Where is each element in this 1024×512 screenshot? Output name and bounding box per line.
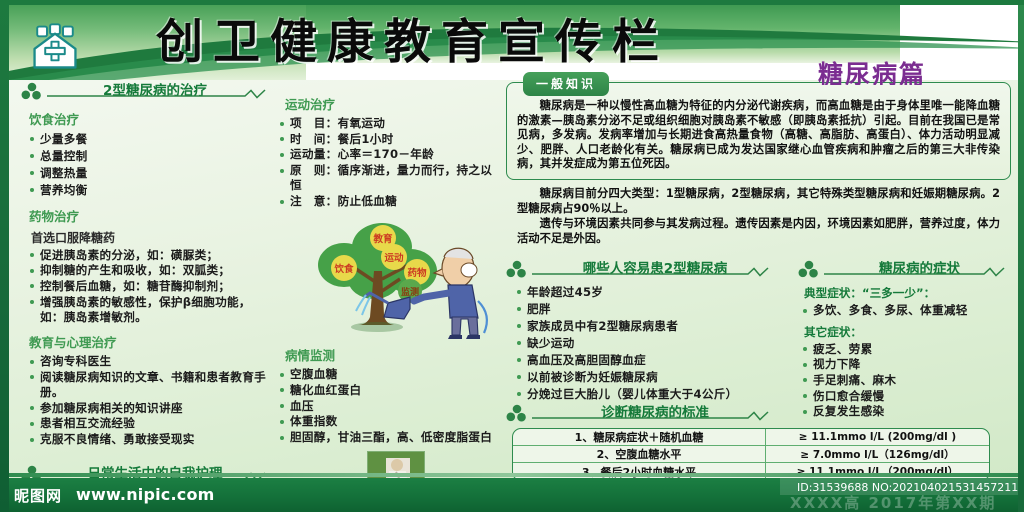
table-row: 1、糖尿病症状＋随机血糖 ≥ 11.1mmo l/L (200mg/dl ) bbox=[513, 429, 989, 446]
list-item: 时 间：餐后1小时 bbox=[279, 132, 502, 147]
nipic-logo: 昵图网 bbox=[14, 485, 62, 506]
exercise-list: 项 目：有氧运动 时 间：餐后1小时 运动量：心率＝170－年龄 原 则：循序渐… bbox=[279, 116, 502, 209]
family-house-medical-cross-icon bbox=[28, 23, 82, 71]
list-item: 以前被诊断为妊娠糖尿病 bbox=[516, 369, 798, 386]
list-item: 空腹血糖 bbox=[279, 367, 502, 382]
middle-column: 运动治疗 项 目：有氧运动 时 间：餐后1小时 运动量：心率＝170－年龄 原 … bbox=[277, 80, 502, 509]
section-header-diagnosis: 诊断糖尿病的标准 bbox=[506, 402, 1011, 424]
list-item: 注 意：防止低血糖 bbox=[279, 194, 502, 209]
section-header-treatment: 2型糖尿病的治疗 bbox=[21, 80, 273, 102]
education-psych-group: 教育与心理治疗 咨询专科医生 阅读糖尿病知识的文章、书籍和患者教育手册。 参加糖… bbox=[21, 332, 273, 447]
fruit-label: 运动 bbox=[384, 253, 404, 264]
list-item: 咨询专科医生 bbox=[29, 354, 273, 369]
nipic-url: www.nipic.com bbox=[76, 485, 215, 504]
list-item: 患者相互交流经验 bbox=[29, 416, 273, 431]
general-knowledge-tab: 一般知识 bbox=[523, 72, 609, 96]
general-knowledge-paragraph: 糖尿病是一种以慢性高血糖为特征的内分泌代谢疾病，而高血糖是由于身体里唯一能降血糖… bbox=[517, 99, 1000, 172]
value-cell: ≥ 7.0mmo l/L（126mg/dl） bbox=[766, 446, 989, 462]
triple-dot-icon bbox=[798, 260, 822, 278]
section-header-symptoms: 糖尿病的症状 bbox=[798, 258, 1011, 280]
frame-left-border bbox=[0, 0, 9, 512]
list-item: 多饮、多食、多尿、体重减轻 bbox=[802, 303, 1011, 318]
monitoring-label: 病情监测 bbox=[285, 345, 502, 364]
general-knowledge-box: 一般知识 糖尿病是一种以慢性高血糖为特征的内分泌代谢疾病，而高血糖是由于身体里唯… bbox=[506, 82, 1011, 180]
header-rule-zigzag bbox=[824, 267, 1014, 277]
poster-body: 2型糖尿病的治疗 饮食治疗 少量多餐 总量控制 调整热量 营养均衡 药物治疗 首… bbox=[9, 80, 1018, 478]
general-knowledge-extra: 糖尿病目前分四大类型：1型糖尿病，2型糖尿病，其它特殊类型糖尿病和妊娠期糖尿病。… bbox=[506, 187, 1011, 246]
list-item: 视力下降 bbox=[802, 357, 1011, 372]
frame-right-border bbox=[1018, 0, 1024, 512]
list-item: 阅读糖尿病知识的文章、书籍和患者教育手册。 bbox=[29, 370, 273, 400]
paragraph-text: 糖尿病是一种以慢性高血糖为特征的内分泌代谢疾病，而高血糖是由于身体里唯一能降血糖… bbox=[517, 99, 1000, 172]
list-item: 少量多餐 bbox=[29, 131, 273, 148]
list-item: 运动量：心率＝170－年龄 bbox=[279, 147, 502, 162]
diet-therapy-group: 饮食治疗 少量多餐 总量控制 调整热量 营养均衡 bbox=[21, 109, 273, 199]
list-item: 血压 bbox=[279, 399, 502, 414]
drug-therapy-group: 药物治疗 首选口服降糖药 促进胰岛素的分泌，如：磺脲类； 抑制糖的产生和吸收，如… bbox=[21, 206, 273, 326]
health-education-poster: 创卫健康教育宣传栏 糖尿病篇 2型糖尿病的治疗 饮食治疗 少量多餐 bbox=[0, 0, 1024, 512]
paragraph-text: 糖尿病目前分四大类型：1型糖尿病，2型糖尿病，其它特殊类型糖尿病和妊娠期糖尿病。… bbox=[517, 187, 1000, 216]
fruit-label: 药物 bbox=[407, 267, 427, 279]
diagnosis-section: 诊断糖尿病的标准 1、糖尿病症状＋随机血糖 ≥ 11.1mmo l/L (200… bbox=[506, 402, 1011, 481]
header-rule-zigzag bbox=[47, 89, 273, 99]
poster-footer: 昵图网 www.nipic.com XXXX高 2017年第XX期 ID:315… bbox=[0, 478, 1024, 512]
left-column: 2型糖尿病的治疗 饮食治疗 少量多餐 总量控制 调整热量 营养均衡 药物治疗 首… bbox=[21, 80, 273, 512]
education-psych-list: 咨询专科医生 阅读糖尿病知识的文章、书籍和患者教育手册。 参加糖尿病相关的知识讲… bbox=[29, 354, 273, 447]
list-item: 高血压及高胆固醇血症 bbox=[516, 352, 798, 369]
other-symptoms-label: 其它症状： bbox=[804, 324, 1011, 340]
page-subtitle: 糖尿病篇 bbox=[818, 55, 926, 85]
frame-top-border bbox=[0, 0, 1024, 5]
list-item: 胆固醇，甘油三酯，高、低密度脂蛋白 bbox=[279, 430, 502, 445]
list-item: 体重指数 bbox=[279, 414, 502, 429]
list-item: 总量控制 bbox=[29, 148, 273, 165]
group-label: 药物治疗 bbox=[29, 206, 273, 225]
triple-dot-icon bbox=[506, 404, 530, 422]
list-item: 缺少运动 bbox=[516, 335, 798, 352]
image-id-text: ID:31539688 NO:20210402153145721109 bbox=[797, 481, 1024, 494]
paragraph-text: 遗传与环境因素共同参与其发病过程。遗传因素是内因，环境因素如肥胖，营养过度，体力… bbox=[517, 217, 1000, 246]
table-row: 2、空腹血糖水平 ≥ 7.0mmo l/L（126mg/dl） bbox=[513, 446, 989, 463]
list-item: 原 则：循序渐进，量力而行，持之以恒 bbox=[279, 163, 502, 193]
list-item: 肥胖 bbox=[516, 301, 798, 318]
list-item: 营养均衡 bbox=[29, 182, 273, 199]
list-item: 控制餐后血糖，如：糖苷酶抑制剂； bbox=[29, 279, 273, 294]
header-rule-zigzag bbox=[532, 267, 792, 277]
criterion-cell: 2、空腹血糖水平 bbox=[513, 446, 766, 462]
group-label: 教育与心理治疗 bbox=[29, 332, 273, 351]
issue-ghost-text: XXXX高 2017年第XX期 bbox=[790, 492, 996, 512]
exercise-label: 运动治疗 bbox=[285, 94, 502, 113]
list-item: 糖化血红蛋白 bbox=[279, 383, 502, 398]
triple-dot-icon bbox=[506, 260, 530, 278]
criterion-cell: 1、糖尿病症状＋随机血糖 bbox=[513, 429, 766, 445]
list-item: 手足刺痛、麻木 bbox=[802, 373, 1011, 388]
list-item: 家族成员中有2型糖尿病患者 bbox=[516, 318, 798, 335]
group-sub-label: 首选口服降糖药 bbox=[31, 229, 273, 246]
list-item: 增强胰岛素的敏感性，保护β细胞功能，如：胰岛素增敏剂。 bbox=[29, 295, 273, 325]
typical-symptoms-list: 多饮、多食、多尿、体重减轻 bbox=[802, 303, 1011, 318]
drug-therapy-list: 促进胰岛素的分泌，如：磺脲类； 抑制糖的产生和吸收，如：双胍类； 控制餐后血糖，… bbox=[29, 248, 273, 326]
fruit-label: 饮食 bbox=[333, 263, 354, 275]
list-item: 克服不良情绪、勇敢接受现实 bbox=[29, 432, 273, 447]
poster-header: 创卫健康教育宣传栏 糖尿病篇 bbox=[0, 5, 1024, 85]
fruit-label: 监测 bbox=[401, 286, 419, 298]
list-item: 年龄超过45岁 bbox=[516, 284, 798, 301]
list-item: 项 目：有氧运动 bbox=[279, 116, 502, 131]
diabetes-management-tree-illustration: 教育 运动 饮食 药物 监测 bbox=[282, 213, 497, 341]
list-item: 促进胰岛素的分泌，如：磺脲类； bbox=[29, 248, 273, 263]
value-cell: ≥ 11.1mmo l/L (200mg/dl ) bbox=[766, 429, 989, 445]
right-column: 一般知识 糖尿病是一种以慢性高血糖为特征的内分泌代谢疾病，而高血糖是由于身体里唯… bbox=[506, 80, 1011, 444]
group-label: 饮食治疗 bbox=[29, 109, 273, 128]
header-rule-zigzag bbox=[532, 411, 792, 421]
list-item: 参加糖尿病相关的知识讲座 bbox=[29, 401, 273, 416]
section-header-risk: 哪些人容易患2型糖尿病 bbox=[506, 258, 798, 280]
page-title: 创卫健康教育宣传栏 bbox=[156, 13, 669, 73]
risk-list: 年龄超过45岁 肥胖 家族成员中有2型糖尿病患者 缺少运动 高血压及高胆固醇血症… bbox=[516, 284, 798, 403]
fruit-label: 教育 bbox=[372, 233, 393, 245]
list-item: 调整热量 bbox=[29, 165, 273, 182]
triple-dot-icon bbox=[21, 82, 45, 100]
monitoring-list: 空腹血糖 糖化血红蛋白 血压 体重指数 胆固醇，甘油三酯，高、低密度脂蛋白 bbox=[279, 367, 502, 445]
typical-symptoms-label: 典型症状：“三多一少”： bbox=[804, 285, 1011, 301]
list-item: 抑制糖的产生和吸收，如：双胍类； bbox=[29, 263, 273, 278]
list-item: 疲乏、劳累 bbox=[802, 342, 1011, 357]
footer-divider bbox=[0, 473, 1024, 477]
diet-therapy-list: 少量多餐 总量控制 调整热量 营养均衡 bbox=[29, 131, 273, 199]
